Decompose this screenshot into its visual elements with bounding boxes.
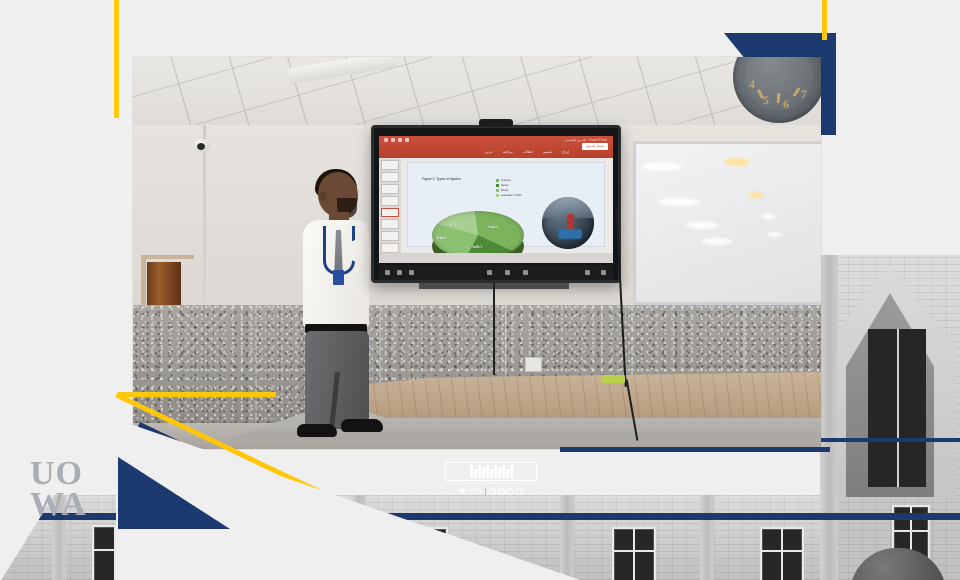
kufic-stroke xyxy=(478,465,481,478)
wall-pier xyxy=(820,255,838,580)
kufic-stroke xyxy=(474,469,477,478)
poster-canvas: 4 5 6 7 xyxy=(0,0,960,580)
home-button[interactable] xyxy=(487,270,492,275)
figure-caption: Figure 2: Types of injuries xyxy=(422,177,461,181)
whiteboard-glare xyxy=(686,222,718,229)
kufic-stroke xyxy=(510,465,513,478)
quick-access-toolbar[interactable] xyxy=(384,138,409,142)
menu-button[interactable] xyxy=(409,270,414,275)
slide-canvas[interactable]: Figure 2: Types of injuries Fracture Spr… xyxy=(407,162,605,247)
whiteboard-glare xyxy=(748,192,764,198)
power-cable xyxy=(493,283,495,375)
volume-down-button[interactable] xyxy=(523,270,528,275)
watermark-subtitle: UNIVERSITY OF WARITH AL-ANBIYAA xyxy=(445,482,537,485)
ceiling xyxy=(133,57,821,129)
wall-socket xyxy=(525,357,542,372)
university-watermark: UNIVERSITY OF WARITH AL-ANBIYAA ☎ 5751 xyxy=(445,462,537,495)
kufic-stroke xyxy=(502,465,505,478)
kufic-stroke xyxy=(494,465,497,478)
wall-pier xyxy=(700,495,714,580)
navy-frame-line xyxy=(560,447,830,452)
legend-label: Bruise xyxy=(501,189,508,192)
kufic-stroke xyxy=(490,469,493,478)
powerpoint-body: Figure 2: Types of injuries Fracture Spr… xyxy=(379,158,613,253)
wall-corner xyxy=(203,125,206,307)
stone-seam xyxy=(255,305,257,423)
islamic-arch xyxy=(824,267,956,497)
legend-swatch xyxy=(496,189,499,192)
wall-pier xyxy=(560,495,574,580)
presenter-id-badge xyxy=(333,270,344,285)
display-webcam-icon xyxy=(479,119,513,127)
source-button[interactable] xyxy=(397,270,402,275)
kufic-stroke xyxy=(498,467,501,478)
display-screen[interactable]: العرض التقديمي - PowerPoint تسجيل الدخول… xyxy=(379,136,613,263)
tab-review[interactable]: مراجعة xyxy=(503,150,513,154)
settings-button[interactable] xyxy=(601,270,606,275)
legend-label: Laceration / Other xyxy=(501,194,522,197)
kufic-stroke xyxy=(506,469,509,478)
building-window xyxy=(760,527,804,580)
presenter-ear xyxy=(319,191,327,201)
pie-label: %34.3 xyxy=(488,225,498,229)
sign-in-button[interactable]: تسجيل الدخول xyxy=(582,143,608,150)
logo-line-1: UO xyxy=(30,458,104,489)
slide-thumbnail[interactable] xyxy=(381,231,399,241)
pie-label: %25.7 xyxy=(472,245,482,249)
powerpoint-status-bar xyxy=(379,253,613,263)
whiteboard-glare xyxy=(702,238,732,245)
logo-line-2: WA xyxy=(30,489,104,520)
presentation-title: العرض التقديمي - PowerPoint xyxy=(564,138,607,142)
volume-up-button[interactable] xyxy=(505,270,510,275)
facebook-icon xyxy=(489,488,496,495)
social-icons xyxy=(489,488,523,495)
pie-label: %21.4 xyxy=(449,223,459,227)
phone-icon: ☎ xyxy=(459,488,466,495)
uowa-logo: UO WA xyxy=(30,458,104,538)
phone-number: 5751 xyxy=(469,489,482,495)
legend-item: Bruise xyxy=(496,189,546,192)
whiteboard-glare xyxy=(768,232,782,237)
whiteboard-glare xyxy=(642,162,682,171)
kufic-stroke xyxy=(482,467,485,478)
presenter-shoe xyxy=(297,424,337,437)
slide-thumbnail[interactable] xyxy=(381,196,399,206)
slide-thumbnail[interactable] xyxy=(381,172,399,182)
legend-swatch xyxy=(496,184,499,187)
redo-icon[interactable] xyxy=(398,138,402,142)
legend-swatch xyxy=(496,194,499,197)
kufic-stroke xyxy=(470,465,473,478)
slide-thumbnail-panel[interactable] xyxy=(379,158,401,253)
save-icon[interactable] xyxy=(384,138,388,142)
legend-item: Fracture xyxy=(496,179,546,182)
chart-legend: Fracture Sprain Bruise xyxy=(496,179,546,199)
building-window xyxy=(612,527,656,580)
tab-design[interactable]: تصميم xyxy=(543,150,552,154)
arch-glazing xyxy=(868,329,926,487)
whiteboard-glare xyxy=(724,158,750,166)
legend-label: Sprain xyxy=(501,184,509,187)
kufic-logomark xyxy=(445,462,537,481)
undo-icon[interactable] xyxy=(391,138,395,142)
ceiling-grid xyxy=(133,57,821,129)
display-control-strip[interactable] xyxy=(379,265,613,280)
legend-item: Sprain xyxy=(496,184,546,187)
separator xyxy=(485,488,486,495)
yellow-frame-line xyxy=(116,392,276,397)
pie-label: %18.6 xyxy=(436,236,446,240)
pie-surface xyxy=(432,211,524,259)
legend-label: Fracture xyxy=(501,179,511,182)
dome-camera-icon xyxy=(193,139,210,152)
tab-insert[interactable]: إدراج xyxy=(562,150,569,154)
photo-foreground xyxy=(558,229,582,239)
tab-view[interactable]: عرض xyxy=(485,150,493,154)
slide-thumbnail[interactable] xyxy=(381,243,399,253)
whiteboard xyxy=(633,141,821,305)
powerpoint-ribbon: العرض التقديمي - PowerPoint تسجيل الدخول… xyxy=(379,136,613,158)
slide-thumbnail-selected[interactable] xyxy=(381,208,399,218)
slide-thumbnail[interactable] xyxy=(381,219,399,229)
power-button[interactable] xyxy=(385,270,390,275)
presenter-shoe xyxy=(341,419,383,432)
interactive-display[interactable]: العرض التقديمي - PowerPoint تسجيل الدخول… xyxy=(371,125,621,283)
legend-item: Laceration / Other xyxy=(496,194,546,197)
building-photo-arch xyxy=(820,255,960,580)
input-button[interactable] xyxy=(585,270,590,275)
watermark-contact: ☎ 5751 xyxy=(445,488,537,495)
yellow-accent-line xyxy=(822,0,827,40)
youtube-icon xyxy=(516,488,523,495)
slide-photo-circle xyxy=(542,197,594,249)
cable-connector-box xyxy=(601,375,625,383)
instagram-icon xyxy=(498,488,505,495)
tab-transitions[interactable]: انتقالات xyxy=(523,150,534,154)
yellow-accent-line xyxy=(114,0,119,118)
twitter-icon xyxy=(507,488,514,495)
lecture-hall-photo: 4 5 6 7 xyxy=(133,57,821,449)
legend-swatch xyxy=(496,179,499,182)
slide-thumbnail[interactable] xyxy=(381,160,399,170)
kufic-stroke xyxy=(486,465,489,478)
slide-thumbnail[interactable] xyxy=(381,184,399,194)
whiteboard-glare xyxy=(658,198,700,206)
ribbon-tabs[interactable]: عرض مراجعة انتقالات تصميم إدراج xyxy=(485,150,569,154)
whiteboard-glare xyxy=(762,214,776,219)
slideshow-icon[interactable] xyxy=(405,138,409,142)
navy-divider-short xyxy=(800,438,960,442)
